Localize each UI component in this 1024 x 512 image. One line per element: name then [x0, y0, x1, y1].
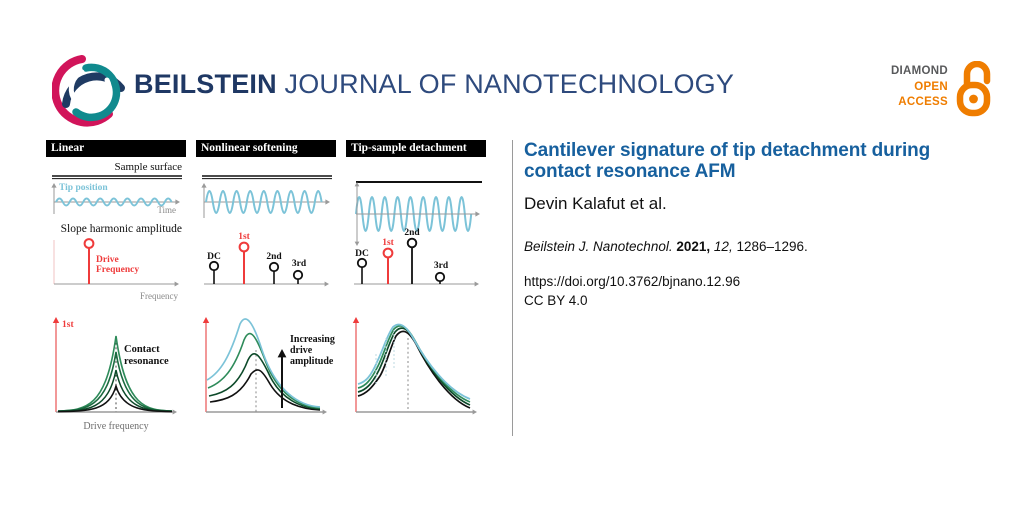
- wordmark-beilstein: BEILSTEIN: [134, 69, 277, 99]
- panel-header-tip-sample-detachment: Tip-sample detachment: [346, 140, 486, 157]
- svg-text:3rd: 3rd: [434, 261, 449, 271]
- open-padlock-icon: [956, 61, 996, 117]
- article-authors: Devin Kalafut et al.: [524, 194, 984, 214]
- figure-panel-linear: Linear Sample surface Tip position Time: [46, 140, 186, 436]
- citation-volume: 12,: [714, 239, 733, 254]
- open-access-line-diamond: DIAMOND: [866, 64, 948, 80]
- svg-text:Slope harmonic amplitude: Slope harmonic amplitude: [61, 223, 182, 235]
- open-access-badge: DIAMOND OPEN ACCESS: [866, 60, 994, 122]
- doi-link[interactable]: https://doi.org/10.3762/bjnano.12.96: [524, 272, 984, 291]
- citation-year: 2021,: [676, 239, 710, 254]
- citation-journal: Beilstein J. Nanotechnol.: [524, 239, 673, 254]
- open-access-text: DIAMOND OPEN ACCESS: [866, 64, 948, 111]
- svg-text:drive: drive: [290, 345, 313, 356]
- svg-text:Frequency: Frequency: [140, 291, 178, 301]
- column-divider: [512, 140, 513, 436]
- wordmark-journal-of-nanotechnology: JOURNAL OF NANOTECHNOLOGY: [285, 69, 735, 99]
- panel-linear-resonance-chart: 1st Contact resonance Drive frequency: [46, 308, 186, 436]
- page-title: Cantilever signature of tip detachment d…: [524, 140, 984, 182]
- figure-panel-tip-sample-detachment: Tip-sample detachment: [346, 140, 486, 436]
- beilstein-spiral-logo: [52, 50, 132, 130]
- panel-header-nonlinear-softening: Nonlinear softening: [196, 140, 336, 157]
- svg-text:2nd: 2nd: [404, 228, 420, 238]
- svg-text:DC: DC: [355, 249, 369, 259]
- article-doi-block: https://doi.org/10.3762/bjnano.12.96 CC …: [524, 272, 984, 310]
- panel-header-linear: Linear: [46, 140, 186, 157]
- svg-text:Drive: Drive: [96, 255, 119, 265]
- panel-detachment-top-chart: DC 1st 2nd 3rd: [346, 158, 486, 304]
- svg-text:amplitude: amplitude: [290, 356, 334, 367]
- svg-text:Time: Time: [157, 205, 176, 215]
- svg-text:Tip position: Tip position: [59, 183, 108, 193]
- svg-text:Drive frequency: Drive frequency: [83, 421, 148, 432]
- article-cover-page: BEILSTEIN JOURNAL OF NANOTECHNOLOGY DIAM…: [0, 0, 1024, 512]
- svg-text:Contact: Contact: [124, 344, 160, 355]
- panel-nonlinear-top-chart: DC 1st 2nd 3rd: [196, 158, 336, 304]
- panel-linear-top-chart: Sample surface Tip position Time Slope: [46, 158, 186, 304]
- cover-figure: Linear Sample surface Tip position Time: [46, 140, 496, 436]
- svg-text:DC: DC: [207, 252, 221, 262]
- open-access-line-open: OPEN: [866, 80, 948, 96]
- page-header: BEILSTEIN JOURNAL OF NANOTECHNOLOGY DIAM…: [0, 0, 1024, 132]
- svg-text:resonance: resonance: [124, 356, 169, 367]
- journal-wordmark: BEILSTEIN JOURNAL OF NANOTECHNOLOGY: [134, 69, 734, 100]
- article-metadata: Cantilever signature of tip detachment d…: [524, 140, 984, 310]
- svg-text:1st: 1st: [382, 238, 394, 248]
- svg-text:Increasing: Increasing: [290, 334, 335, 345]
- svg-text:Sample surface: Sample surface: [115, 161, 183, 173]
- figure-panel-nonlinear-softening: Nonlinear softening: [196, 140, 336, 436]
- open-access-line-access: ACCESS: [866, 95, 948, 111]
- panel-nonlinear-resonance-chart: Increasing drive amplitude: [196, 308, 336, 436]
- article-citation: Beilstein J. Nanotechnol. 2021, 12, 1286…: [524, 238, 984, 256]
- svg-text:3rd: 3rd: [292, 259, 307, 269]
- panel-detachment-resonance-chart: [346, 308, 486, 436]
- citation-pages: 1286–1296.: [736, 239, 807, 254]
- license-label: CC BY 4.0: [524, 291, 984, 310]
- svg-text:1st: 1st: [62, 320, 74, 330]
- svg-text:2nd: 2nd: [266, 252, 282, 262]
- svg-text:Frequency: Frequency: [96, 265, 139, 275]
- svg-text:1st: 1st: [238, 232, 250, 242]
